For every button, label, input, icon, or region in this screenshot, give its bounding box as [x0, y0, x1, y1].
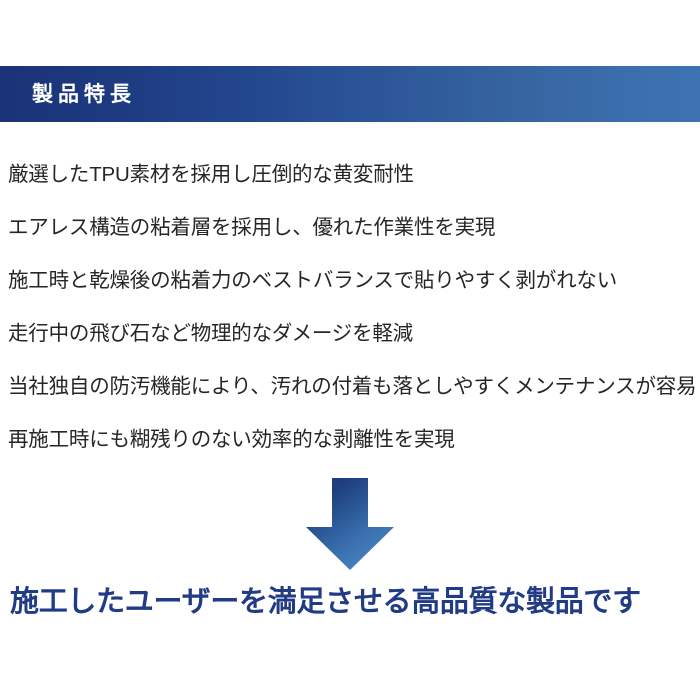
list-item: 再施工時にも糊残りのない効率的な剥離性を実現 — [8, 413, 698, 466]
list-item: 厳選したTPU素材を採用し圧倒的な黄変耐性 — [8, 148, 698, 201]
list-item: 施工時と乾燥後の粘着力のベストバランスで貼りやすく剥がれない — [8, 254, 698, 307]
section-header-band: 製品特長 — [0, 66, 700, 122]
list-item: エアレス構造の粘着層を採用し、優れた作業性を実現 — [8, 201, 698, 254]
page-title: 製品特長 — [32, 84, 136, 105]
arrow-down-glyph — [303, 477, 397, 571]
list-item: 走行中の飛び石など物理的なダメージを軽減 — [8, 307, 698, 360]
conclusion-text: 施工したユーザーを満足させる高品質な製品です — [10, 580, 700, 624]
product-features-panel: 製品特長 厳選したTPU素材を採用し圧倒的な黄変耐性 エアレス構造の粘着層を採用… — [0, 0, 700, 700]
feature-list: 厳選したTPU素材を採用し圧倒的な黄変耐性 エアレス構造の粘着層を採用し、優れた… — [8, 148, 698, 466]
list-item: 当社独自の防汚機能により、汚れの付着も落としやすくメンテナンスが容易 — [8, 360, 698, 413]
arrow-down-icon — [303, 477, 397, 571]
